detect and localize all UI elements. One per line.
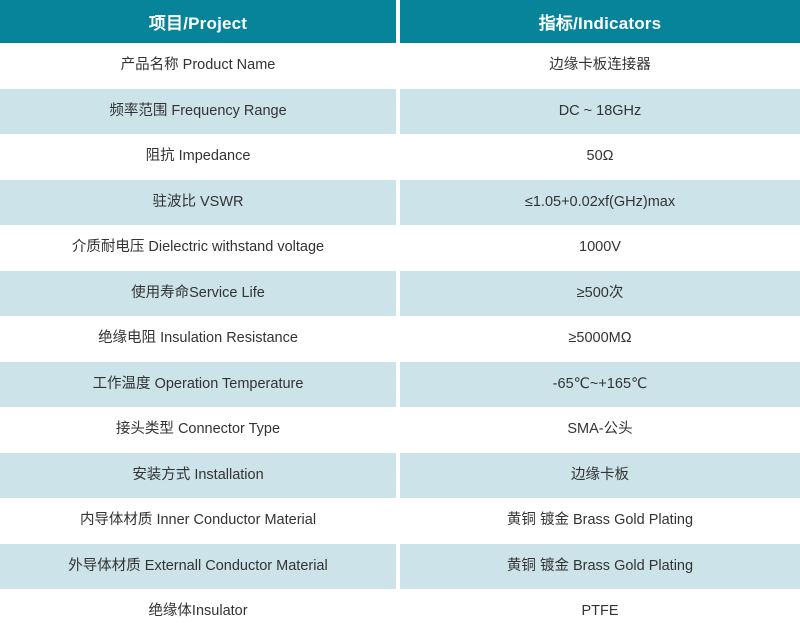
cell-project: 外导体材质 Externall Conductor Material (0, 544, 396, 590)
cell-indicators: SMA-公头 (400, 407, 800, 453)
table-row: 外导体材质 Externall Conductor Material黄铜 镀金 … (0, 544, 800, 590)
table-row: 介质耐电压 Dielectric withstand voltage1000V (0, 225, 800, 271)
cell-indicators: ≥500次 (400, 271, 800, 317)
cell-project: 接头类型 Connector Type (0, 407, 396, 453)
table-header-row: 项目/Project 指标/Indicators (0, 0, 800, 43)
table-row: 安装方式 Installation边缘卡板 (0, 453, 800, 499)
cell-indicators: 黄铜 镀金 Brass Gold Plating (400, 544, 800, 590)
cell-project: 介质耐电压 Dielectric withstand voltage (0, 225, 396, 271)
cell-project: 驻波比 VSWR (0, 180, 396, 226)
cell-project: 绝缘体Insulator (0, 589, 396, 634)
cell-indicators: 边缘卡板 (400, 453, 800, 499)
table-row: 绝缘电阻 Insulation Resistance≥5000MΩ (0, 316, 800, 362)
cell-project: 绝缘电阻 Insulation Resistance (0, 316, 396, 362)
cell-project: 频率范围 Frequency Range (0, 89, 396, 135)
table-row: 使用寿命Service Life≥500次 (0, 271, 800, 317)
cell-project: 产品名称 Product Name (0, 43, 396, 89)
specification-table: 项目/Project 指标/Indicators 产品名称 Product Na… (0, 0, 800, 634)
table-row: 内导体材质 Inner Conductor Material黄铜 镀金 Bras… (0, 498, 800, 544)
cell-project: 阻抗 Impedance (0, 134, 396, 180)
cell-project: 安装方式 Installation (0, 453, 396, 499)
cell-indicators: ≥5000MΩ (400, 316, 800, 362)
cell-indicators: ≤1.05+0.02xf(GHz)max (400, 180, 800, 226)
cell-indicators: 边缘卡板连接器 (400, 43, 800, 89)
cell-indicators: PTFE (400, 589, 800, 634)
cell-indicators: 1000V (400, 225, 800, 271)
table-row: 工作温度 Operation Temperature-65℃~+165℃ (0, 362, 800, 408)
column-header-indicators: 指标/Indicators (400, 0, 800, 43)
cell-indicators: DC ~ 18GHz (400, 89, 800, 135)
table-row: 绝缘体InsulatorPTFE (0, 589, 800, 634)
table-row: 驻波比 VSWR≤1.05+0.02xf(GHz)max (0, 180, 800, 226)
table-row: 接头类型 Connector TypeSMA-公头 (0, 407, 800, 453)
cell-indicators: -65℃~+165℃ (400, 362, 800, 408)
table-row: 产品名称 Product Name边缘卡板连接器 (0, 43, 800, 89)
cell-project: 内导体材质 Inner Conductor Material (0, 498, 396, 544)
column-header-project: 项目/Project (0, 0, 396, 43)
cell-indicators: 50Ω (400, 134, 800, 180)
cell-project: 工作温度 Operation Temperature (0, 362, 396, 408)
table-row: 频率范围 Frequency RangeDC ~ 18GHz (0, 89, 800, 135)
cell-project: 使用寿命Service Life (0, 271, 396, 317)
table-body: 产品名称 Product Name边缘卡板连接器频率范围 Frequency R… (0, 43, 800, 634)
table-row: 阻抗 Impedance50Ω (0, 134, 800, 180)
cell-indicators: 黄铜 镀金 Brass Gold Plating (400, 498, 800, 544)
